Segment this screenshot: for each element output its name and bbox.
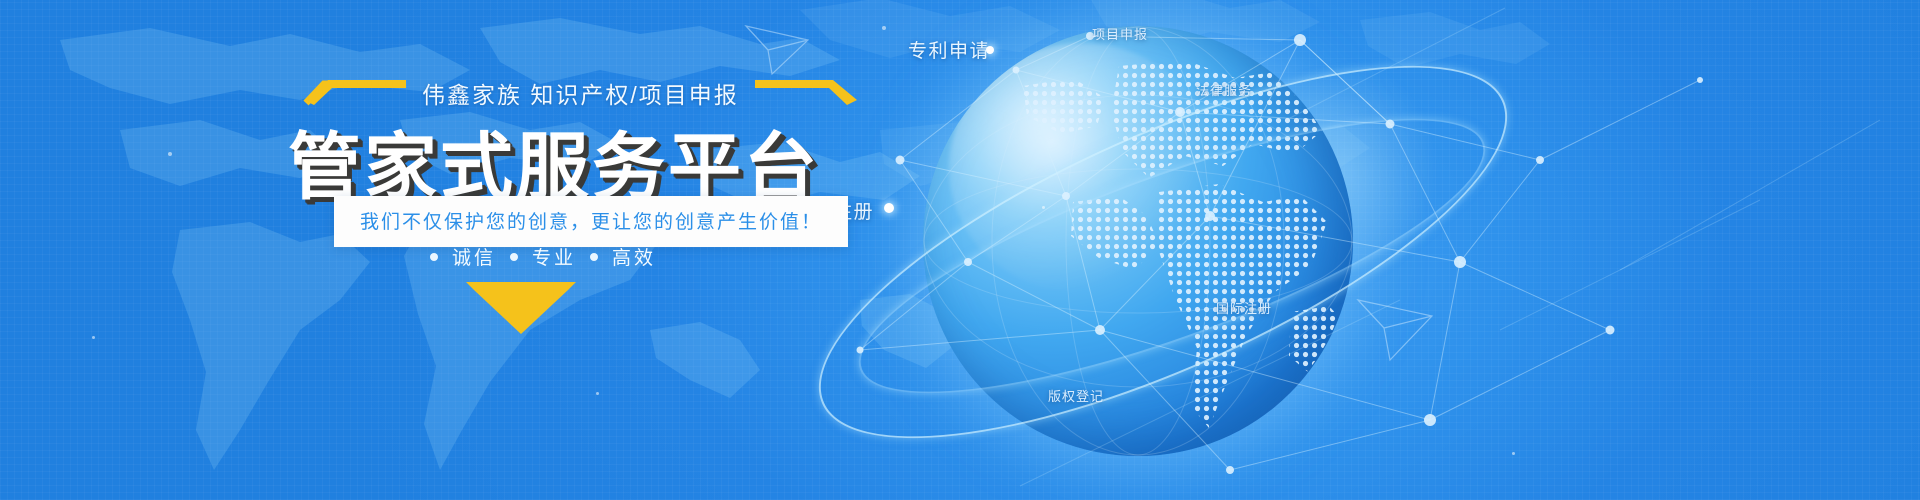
bullet-dot-icon (510, 253, 518, 261)
tagline-box: 我们不仅保护您的创意，更让您的创意产生价值！ (334, 196, 848, 247)
globe-label-project-declaration: 项目申报 (1092, 24, 1148, 43)
tagline-text: 我们不仅保护您的创意，更让您的创意产生价值！ (360, 207, 822, 234)
caret-down-icon (466, 282, 576, 338)
bullet-dot-icon (430, 253, 438, 261)
label-node-patent (986, 46, 994, 54)
brand-subtitle: 伟鑫家族 知识产权/项目申报 (406, 76, 755, 110)
dust-dot (596, 392, 599, 395)
dust-dot (92, 336, 95, 339)
label-node-trademark (884, 203, 894, 213)
keyword-efficient: 高效 (612, 243, 656, 270)
globe-label-copyright-registration: 版权登记 (1048, 386, 1104, 405)
dust-dot (1512, 452, 1515, 455)
bullet-dot-icon (590, 253, 598, 261)
globe-label-international-registration: 国际注册 (1216, 298, 1272, 317)
dust-dot (168, 152, 172, 156)
hero-banner: 专利申请 项目申报 法律服务 商标注册 国际注册 版权登记 伟鑫家族 知识产权/… (0, 0, 1920, 500)
network-constellation (0, 0, 1920, 500)
brand-subtitle-row: 伟鑫家族 知识产权/项目申报 (302, 76, 859, 110)
dust-dot (1042, 206, 1045, 209)
dust-dot (882, 26, 886, 30)
keyword-integrity: 诚信 (452, 243, 496, 270)
globe-label-legal-services: 法律服务 (1196, 80, 1252, 99)
arrow-left-icon (302, 78, 406, 108)
globe-label-patent-application: 专利申请 (908, 36, 990, 63)
arrow-right-icon (755, 78, 859, 108)
keyword-list: 诚信 专业 高效 (430, 243, 656, 270)
keyword-professional: 专业 (532, 243, 576, 270)
